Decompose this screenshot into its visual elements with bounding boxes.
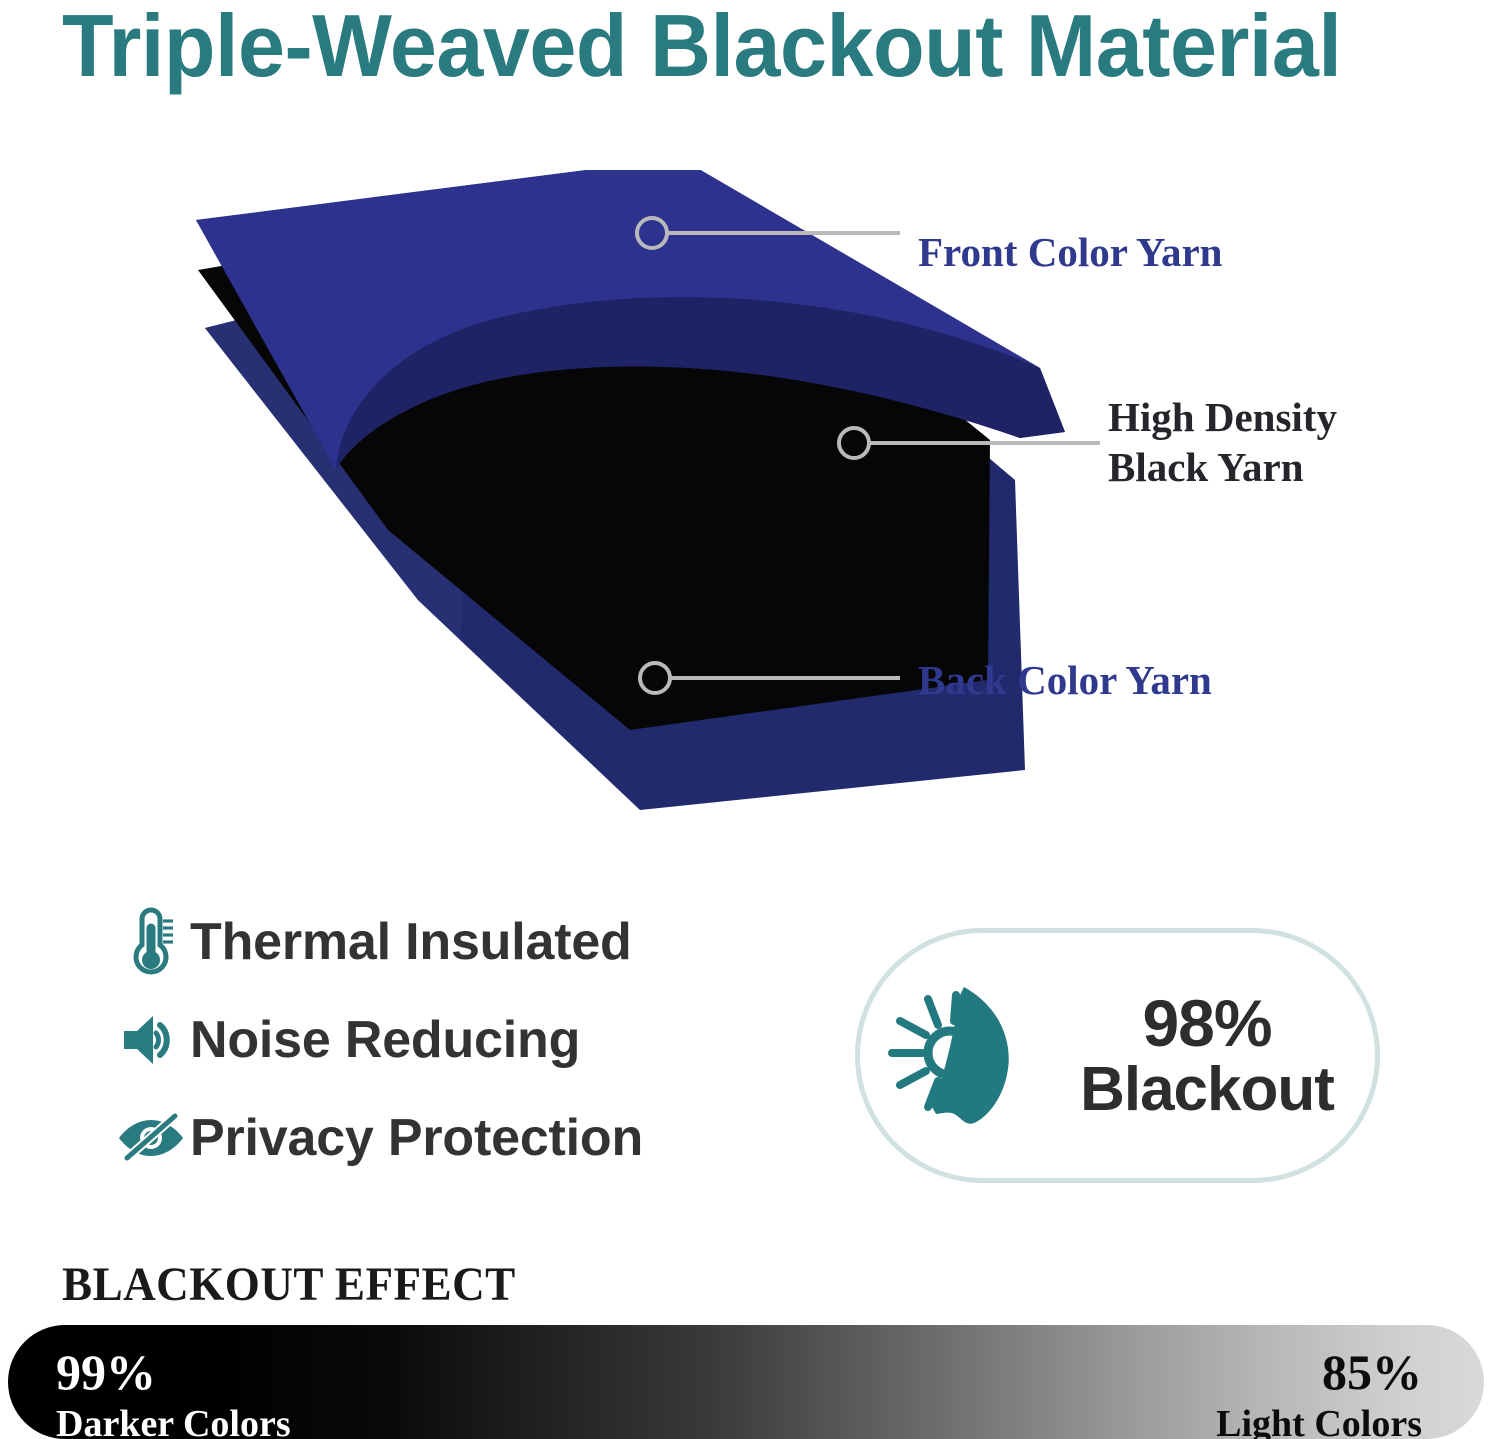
eye-slash-icon bbox=[112, 1112, 190, 1164]
callout-label-black-yarn-line1: High Density bbox=[1108, 392, 1337, 442]
callout-label-black-yarn: High Density Black Yarn bbox=[1108, 392, 1337, 492]
darker-colors-percent: 99% bbox=[56, 1347, 291, 1397]
blackout-effect-heading: BLACKOUT EFFECT bbox=[62, 1259, 516, 1311]
blackout-percent: 98% bbox=[1142, 986, 1271, 1060]
gradient-bar-right-stat: 85% Light Colors bbox=[1216, 1347, 1422, 1439]
light-colors-percent: 85% bbox=[1216, 1347, 1422, 1397]
feature-row-privacy-protection: Privacy Protection bbox=[112, 1089, 772, 1187]
feature-label-privacy-protection: Privacy Protection bbox=[190, 1110, 643, 1166]
feature-label-noise-reducing: Noise Reducing bbox=[190, 1012, 580, 1068]
feature-list: Thermal Insulated Noise Reducing Privacy… bbox=[112, 893, 772, 1187]
blackout-word: Blackout bbox=[1080, 1055, 1334, 1124]
callout-label-black-yarn-line2: Black Yarn bbox=[1108, 442, 1337, 492]
thermometer-icon bbox=[112, 907, 190, 977]
blackout-badge-text: 98% Blackout bbox=[1039, 989, 1375, 1123]
feature-row-noise-reducing: Noise Reducing bbox=[112, 991, 772, 1089]
blackout-badge: 98% Blackout bbox=[855, 928, 1380, 1183]
feature-label-thermal-insulated: Thermal Insulated bbox=[190, 914, 632, 970]
feature-row-thermal-insulated: Thermal Insulated bbox=[112, 893, 772, 991]
darker-colors-label: Darker Colors bbox=[56, 1405, 291, 1439]
speaker-icon bbox=[112, 1012, 190, 1068]
light-colors-label: Light Colors bbox=[1216, 1405, 1422, 1439]
blackout-effect-gradient-bar: 99% Darker Colors 85% Light Colors bbox=[8, 1325, 1484, 1439]
page-title: Triple-Weaved Blackout Material bbox=[62, 0, 1406, 98]
callout-label-front-color-yarn: Front Color Yarn bbox=[918, 228, 1222, 276]
callout-label-back-color-yarn: Back Color Yarn bbox=[918, 656, 1212, 704]
gradient-bar-left-stat: 99% Darker Colors bbox=[56, 1347, 291, 1439]
sun-blocked-icon bbox=[860, 981, 1035, 1131]
